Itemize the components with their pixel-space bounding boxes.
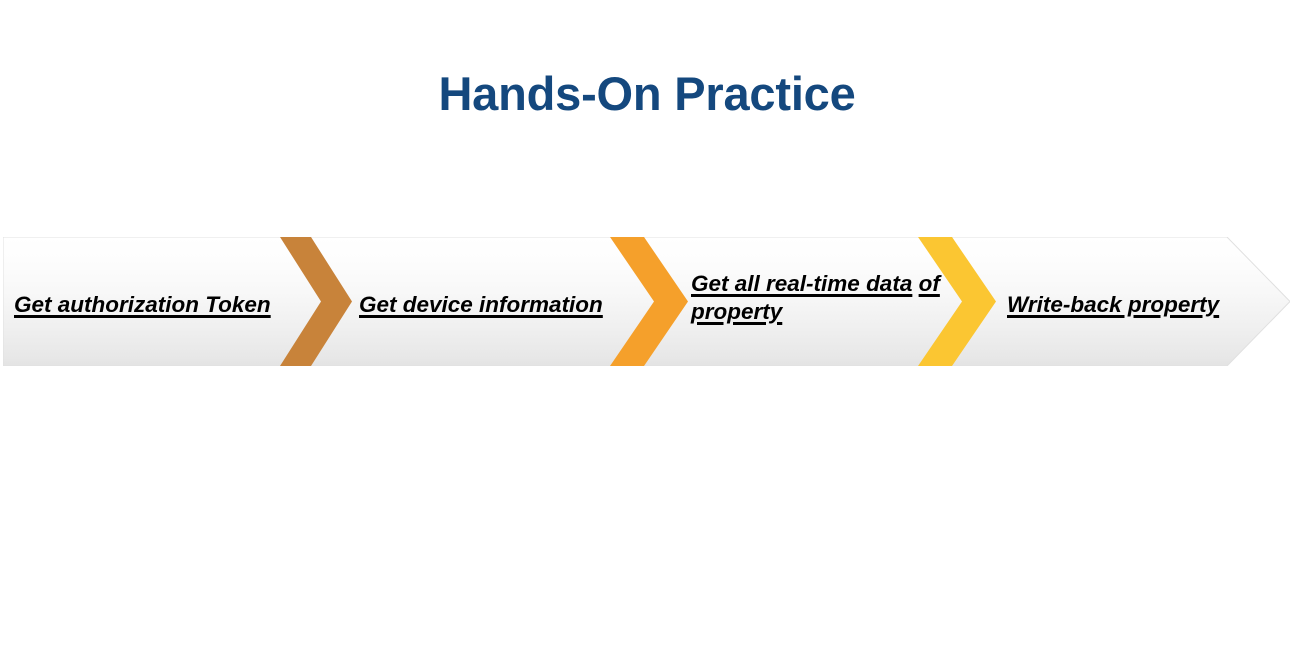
process-step-2-label: Get device information (359, 291, 603, 319)
process-step-1-label: Get authorization Token (14, 291, 271, 319)
process-step-4-label: Write-back property (1007, 291, 1219, 319)
page-title: Hands-On Practice (0, 68, 1294, 121)
process-step-3-label-line-1: Get all real-time data (691, 271, 912, 296)
process-step-3[interactable]: Get all real-time data of property (691, 270, 951, 326)
process-separator-1 (280, 237, 352, 366)
process-step-1[interactable]: Get authorization Token (14, 291, 271, 319)
process-separator-2 (610, 237, 688, 366)
process-banner: Get authorization Token Get device infor… (3, 237, 1290, 366)
process-step-2[interactable]: Get device information (359, 291, 603, 319)
slide-canvas: Hands-On Practice G (0, 0, 1301, 649)
process-step-4[interactable]: Write-back property (1007, 291, 1219, 319)
